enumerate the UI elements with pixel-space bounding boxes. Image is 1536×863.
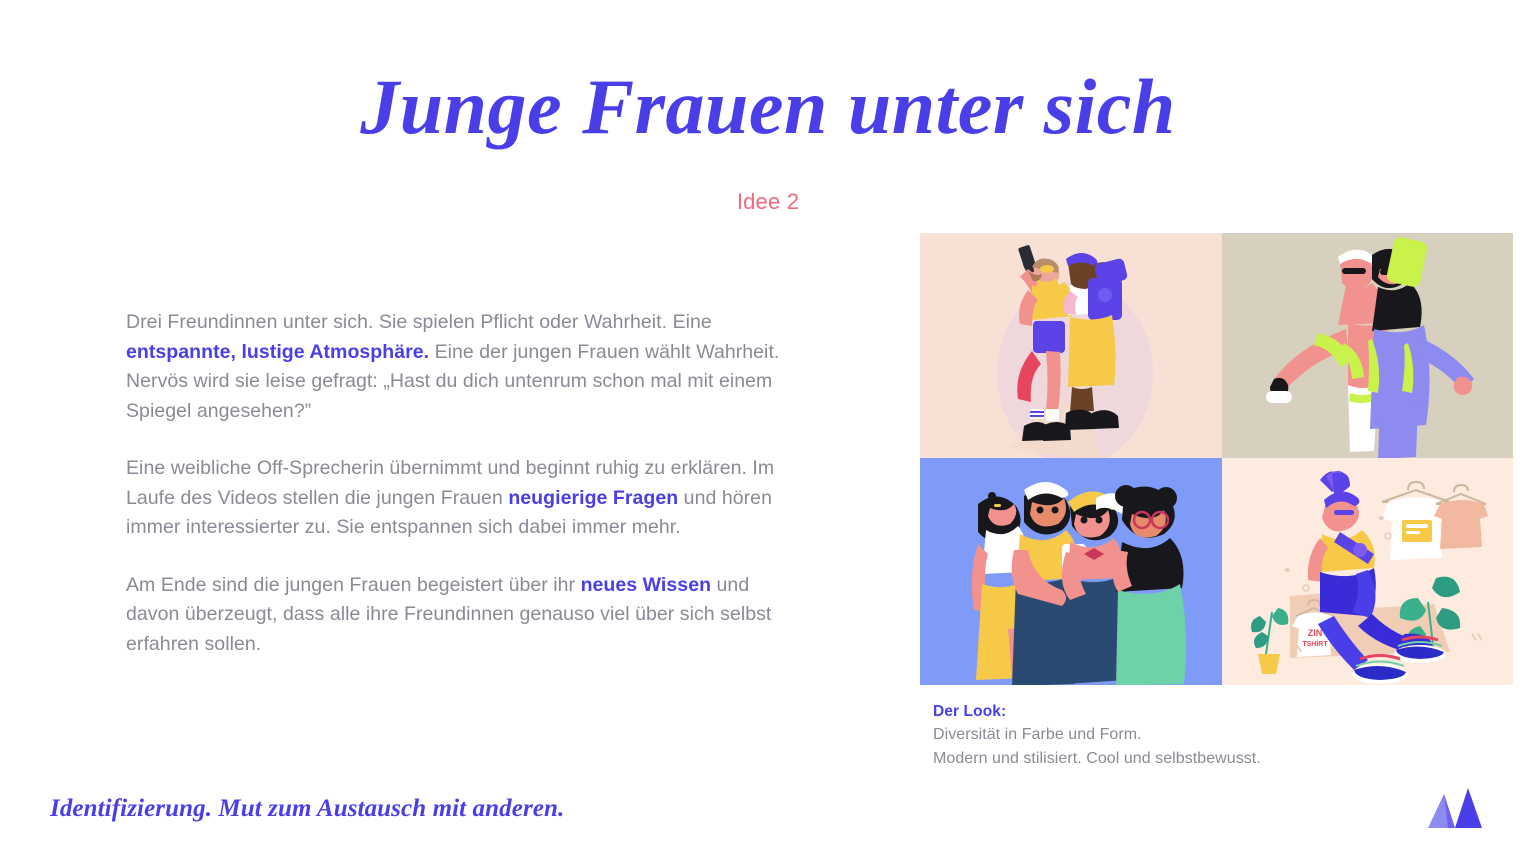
panel-fashion-duo: [1222, 233, 1513, 458]
caption-title: Der Look:: [933, 700, 1493, 723]
paragraph-1-highlight: entspannte, lustige Atmosphäre.: [126, 341, 429, 363]
paragraph-2-highlight: neugierige Fragen: [508, 487, 678, 509]
body-text-column: Drei Freundinnen unter sich. Sie spielen…: [126, 308, 786, 659]
paragraph-1-seg-1: Drei Freundinnen unter sich. Sie spielen…: [126, 311, 712, 333]
panel-group-four: [920, 458, 1222, 685]
paragraph-2: Eine weibliche Off-Sprecherin übernimmt …: [126, 454, 786, 543]
page-subtitle: Idee 2: [0, 189, 1536, 215]
mountain-m-logo: [1424, 784, 1486, 830]
caption-line-1: Diversität in Farbe und Form.: [933, 723, 1493, 747]
page-title: Junge Frauen unter sich: [0, 68, 1536, 146]
moodboard-caption: Der Look: Diversität in Farbe und Form. …: [933, 700, 1493, 770]
panel-sitting-figure: ZIN TSHIRT: [1222, 458, 1513, 685]
paragraph-1: Drei Freundinnen unter sich. Sie spielen…: [126, 308, 786, 426]
moodboard-grid: ZIN TSHIRT: [920, 233, 1513, 685]
panel-selfie-duo: [920, 233, 1222, 458]
svg-text:ZIN: ZIN: [1308, 628, 1323, 638]
paragraph-3-highlight: neues Wissen: [581, 574, 711, 596]
paragraph-3: Am Ende sind die jungen Frauen begeister…: [126, 571, 786, 660]
svg-text:TSHIRT: TSHIRT: [1302, 641, 1328, 648]
paragraph-3-seg-1: Am Ende sind die jungen Frauen begeister…: [126, 574, 581, 596]
footer-tagline: Identifizierung. Mut zum Austausch mit a…: [50, 795, 564, 823]
caption-line-2: Modern und stilisiert. Cool und selbstbe…: [933, 747, 1493, 771]
presentation-slide: Junge Frauen unter sich Idee 2 Drei Freu…: [0, 0, 1536, 863]
